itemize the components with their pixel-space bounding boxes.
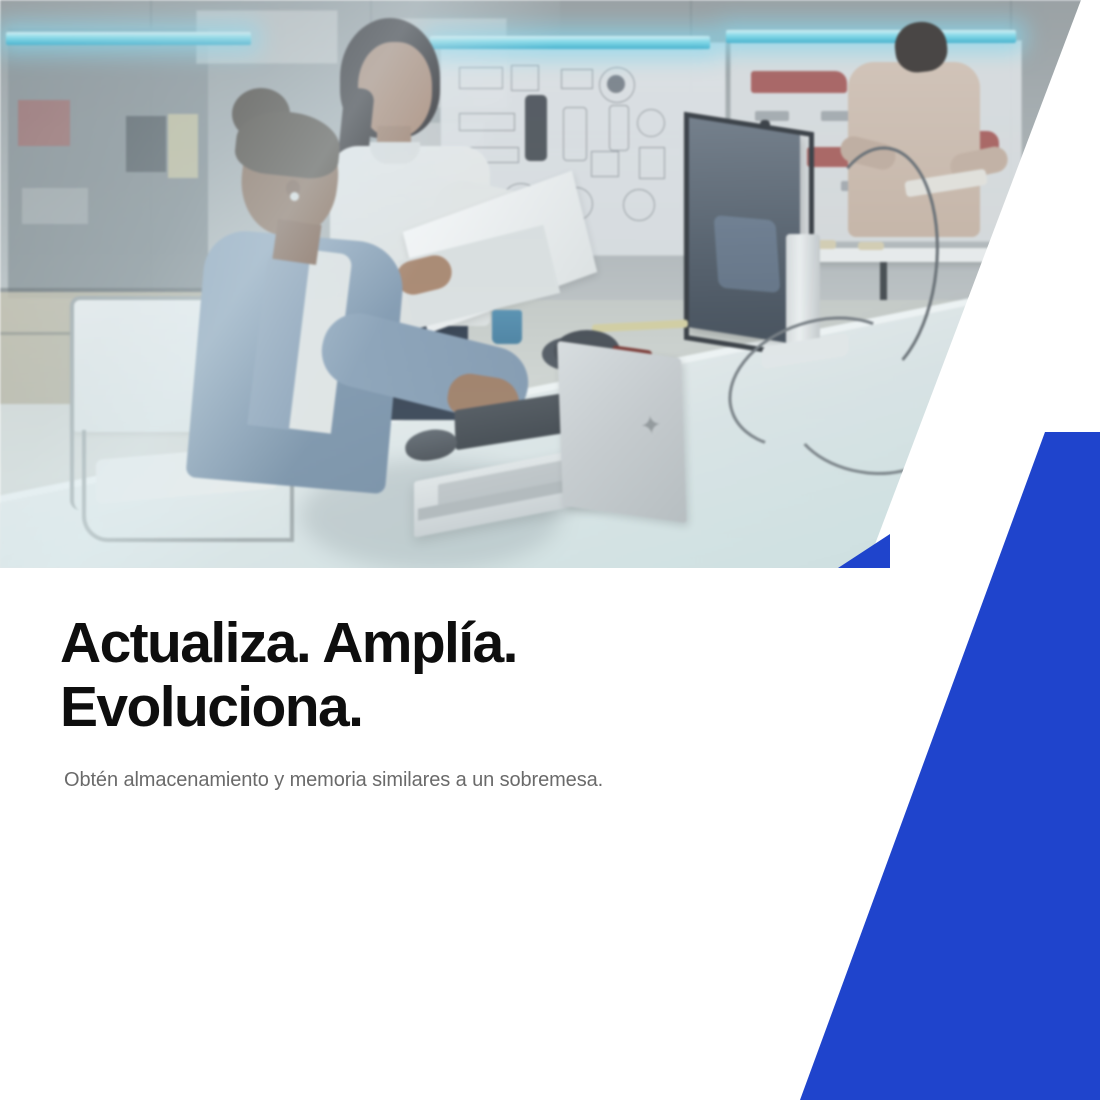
board-icon-ring	[623, 189, 655, 221]
board-icon-tool	[563, 107, 587, 161]
board-icon-rect	[459, 67, 503, 89]
pinned-note	[168, 114, 198, 178]
wall-pinboard	[8, 28, 208, 298]
board-icon-rect	[639, 147, 665, 179]
led-light-strip	[6, 32, 251, 45]
copy-block: Actualiza. Amplía. Evoluciona. Obtén alm…	[60, 612, 760, 795]
seated-woman-earring	[290, 192, 299, 201]
workbench-leg	[1052, 262, 1059, 340]
photo-scene: ✦	[0, 0, 1100, 568]
led-light-strip	[430, 36, 710, 49]
laptop-brand-logo-icon: ✦	[639, 411, 668, 440]
headline: Actualiza. Amplía. Evoluciona.	[60, 612, 760, 740]
board-icon-rect	[561, 69, 593, 89]
seated-woman-neck	[272, 219, 321, 265]
board-product-red	[751, 71, 847, 93]
board-icon-tool	[609, 105, 629, 151]
pinned-note	[22, 188, 88, 224]
led-light-strip	[726, 30, 1016, 43]
board-label	[821, 111, 851, 121]
board-icon-ring	[637, 109, 665, 137]
board-icon-rect	[511, 65, 539, 91]
marketing-banner-page: ✦ Actualiza. Amplía. Evoluciona. Obtén a…	[0, 0, 1100, 1100]
board-icon-rect	[459, 113, 515, 131]
laptop-lid	[557, 341, 687, 523]
blue-cup	[492, 310, 522, 344]
board-icon-rect	[591, 151, 619, 177]
pinned-note	[126, 116, 166, 172]
pinned-note	[18, 100, 70, 146]
board-label	[755, 111, 789, 121]
board-icon-bottle	[525, 95, 547, 161]
board-icon-dot	[607, 75, 625, 93]
hero-image: ✦	[0, 0, 1100, 568]
subheadline: Obtén almacenamiento y memoria similares…	[64, 766, 724, 795]
